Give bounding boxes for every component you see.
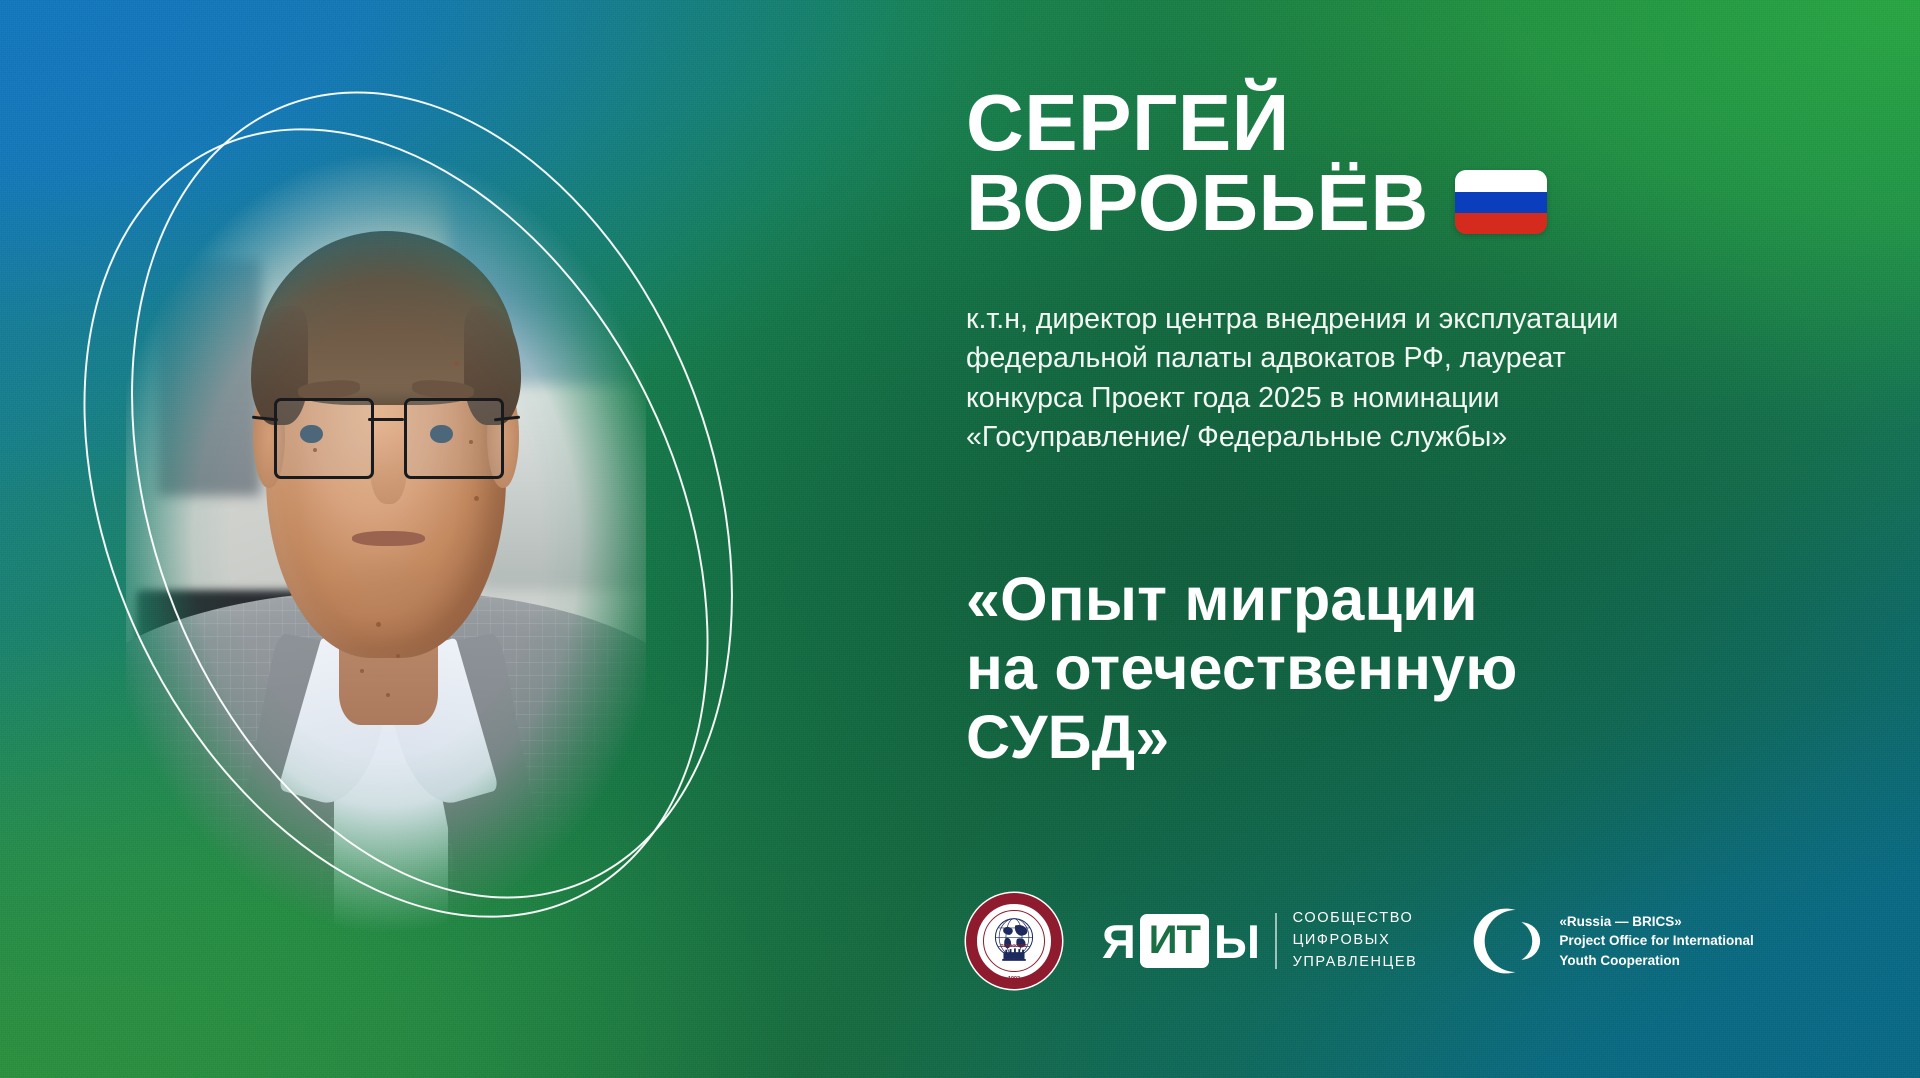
yaity-logo: Я ИТ Ы СООБЩЕСТВО ЦИФРОВЫХ УПРАВЛЕНЦЕВ [1102, 908, 1417, 973]
brics-text-line: «Russia — BRICS» [1559, 912, 1753, 931]
seal-ring-text: JAHON IQTISODIYOTI VA DIPLOMATIYA UNIVER… [966, 893, 1062, 989]
talk-title: «Опыт миграции на отечественную СУБД» [966, 565, 1796, 772]
yaity-letter-y: Ы [1214, 918, 1259, 965]
speaker-slide: Портрет спикера СЕРГЕЙ ВОРОБЬЁВ к.т.н, д… [0, 0, 1920, 1078]
talk-title-line: СУБД» [966, 703, 1796, 772]
brics-text-line: Project Office for International [1559, 931, 1753, 950]
partner-logos: JAHON IQTISODIYOTI VA DIPLOMATIYA UNIVER… [966, 893, 1754, 989]
flag-stripe-white [1455, 170, 1547, 191]
bio-line: федеральной палаты адвокатов РФ, лауреат [966, 339, 1756, 378]
seal-ring-char: I [1039, 909, 1045, 915]
bio-line: «Госуправление/ Федеральные службы» [966, 418, 1756, 457]
bio-line: к.т.н, директор центра внедрения и экспл… [966, 300, 1756, 339]
yaity-letters-it: ИТ [1140, 914, 1209, 968]
speaker-portrait: Портрет спикера [88, 70, 728, 1010]
brics-text: «Russia — BRICS» Project Office for Inte… [1559, 912, 1753, 969]
speaker-name-block: СЕРГЕЙ ВОРОБЬЁВ [966, 86, 1766, 239]
flag-stripe-blue [1455, 192, 1547, 213]
russia-flag-icon [1455, 170, 1547, 234]
talk-title-line: на отечественную [966, 634, 1796, 703]
brics-logo: «Russia — BRICS» Project Office for Inte… [1471, 905, 1753, 977]
brics-crescent-icon [1471, 905, 1543, 977]
speaker-bio: к.т.н, директор центра внедрения и экспл… [966, 300, 1756, 457]
yaity-tagline-line: ЦИФРОВЫХ [1293, 930, 1418, 952]
yaity-letter-ya: Я [1102, 918, 1135, 965]
speaker-first-name: СЕРГЕЙ [966, 86, 1766, 160]
university-seal-logo: JAHON IQTISODIYOTI VA DIPLOMATIYA UNIVER… [966, 893, 1062, 989]
speaker-last-name: ВОРОБЬЁВ [966, 166, 1429, 240]
yaity-tagline-line: УПРАВЛЕНЦЕВ [1293, 952, 1418, 974]
seal-city-label: TOSHKENT [1001, 943, 1028, 948]
speaker-lastname-row: ВОРОБЬЁВ [966, 166, 1766, 240]
yaity-tagline: СООБЩЕСТВО ЦИФРОВЫХ УПРАВЛЕНЦЕВ [1293, 908, 1418, 973]
yaity-tagline-line: СООБЩЕСТВО [1293, 908, 1418, 930]
brics-text-line: Youth Cooperation [1559, 951, 1753, 970]
talk-title-line: «Опыт миграции [966, 565, 1796, 634]
flag-stripe-red [1455, 213, 1547, 234]
bio-line: конкурса Проект года 2025 в номинации [966, 379, 1756, 418]
yaity-divider [1275, 913, 1277, 969]
seal-year: 1992 [966, 976, 1062, 982]
